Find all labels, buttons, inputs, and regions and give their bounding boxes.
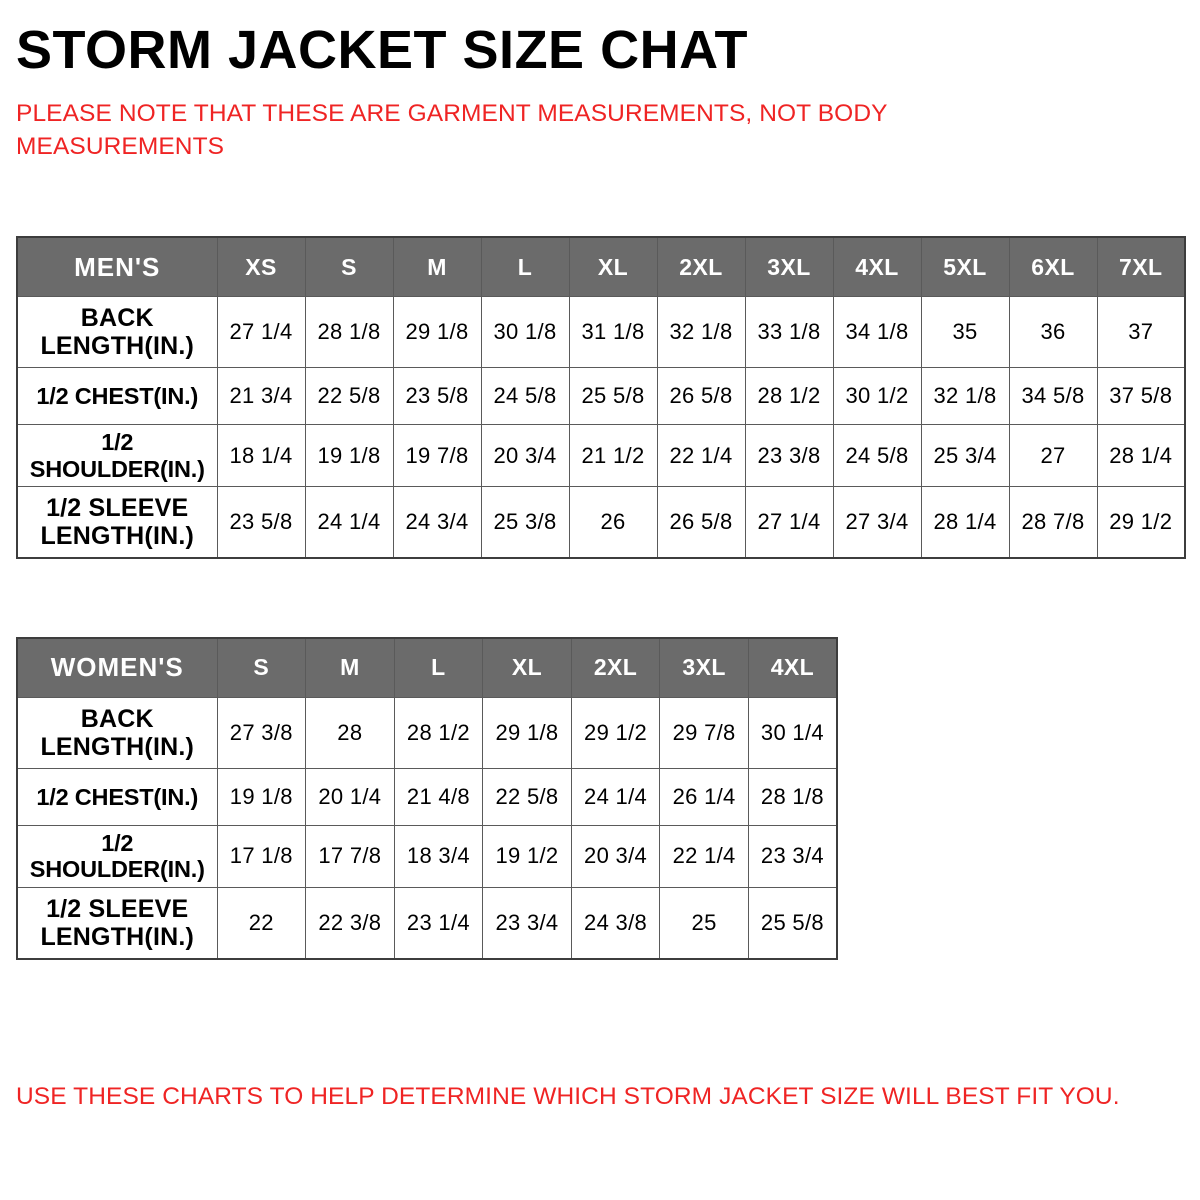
table-row: 1/2 SLEEVELENGTH(IN.)23 5/824 1/424 3/42… — [17, 486, 1185, 558]
measurement-cell: 22 — [217, 887, 306, 959]
measurement-cell: 25 5/8 — [569, 368, 657, 425]
row-label-line: LENGTH(IN.) — [40, 522, 194, 550]
measurement-cell: 17 1/8 — [217, 825, 306, 887]
mens-size-header-s: S — [305, 237, 393, 297]
row-label-line: 1/2 CHEST(IN.) — [36, 784, 198, 810]
measurement-cell: 32 1/8 — [657, 297, 745, 368]
measurement-cell: 25 5/8 — [748, 887, 837, 959]
measurement-cell: 18 1/4 — [217, 425, 305, 487]
mens-row-label-0: BACKLENGTH(IN.) — [17, 297, 217, 368]
mens-size-header-3xl: 3XL — [745, 237, 833, 297]
measurement-cell: 24 3/4 — [393, 486, 481, 558]
use-chart-note: USE THESE CHARTS TO HELP DETERMINE WHICH… — [16, 1081, 1120, 1113]
measurement-cell: 22 5/8 — [483, 768, 572, 825]
row-label-line: 1/2 SLEEVE — [46, 494, 188, 522]
mens-row-label-3: 1/2 SLEEVELENGTH(IN.) — [17, 486, 217, 558]
measurement-cell: 25 3/4 — [921, 425, 1009, 487]
measurement-cell: 29 1/2 — [1097, 486, 1185, 558]
measurement-cell: 26 — [569, 486, 657, 558]
measurement-cell: 19 1/8 — [217, 768, 306, 825]
measurement-cell: 37 5/8 — [1097, 368, 1185, 425]
row-label-line: LENGTH(IN.) — [40, 923, 194, 951]
measurement-cell: 27 3/4 — [833, 486, 921, 558]
measurement-cell: 33 1/8 — [745, 297, 833, 368]
measurement-cell: 22 1/4 — [657, 425, 745, 487]
garment-measurement-note: PLEASE NOTE THAT THESE ARE GARMENT MEASU… — [16, 79, 976, 165]
womens-row-label-1: 1/2 CHEST(IN.) — [17, 768, 217, 825]
row-label-line: 1/2 SLEEVE — [46, 895, 188, 923]
measurement-cell: 29 1/2 — [571, 697, 660, 768]
measurement-cell: 20 3/4 — [571, 825, 660, 887]
measurement-cell: 28 1/8 — [305, 297, 393, 368]
womens-size-header-4xl: 4XL — [748, 638, 837, 698]
womens-table-head: WOMEN'SSMLXL2XL3XL4XL — [17, 638, 837, 698]
womens-size-header-2xl: 2XL — [571, 638, 660, 698]
size-chart-page: STORM JACKET SIZE CHAT PLEASE NOTE THAT … — [0, 0, 1200, 1200]
measurement-cell: 29 1/8 — [393, 297, 481, 368]
mens-size-header-l: L — [481, 237, 569, 297]
measurement-cell: 30 1/4 — [748, 697, 837, 768]
measurement-cell: 27 1/4 — [745, 486, 833, 558]
measurement-cell: 23 3/4 — [483, 887, 572, 959]
measurement-cell: 20 1/4 — [306, 768, 395, 825]
table-row: 1/2 CHEST(IN.)21 3/422 5/823 5/824 5/825… — [17, 368, 1185, 425]
womens-size-header-s: S — [217, 638, 306, 698]
measurement-cell: 28 1/2 — [745, 368, 833, 425]
measurement-cell: 20 3/4 — [481, 425, 569, 487]
measurement-cell: 23 1/4 — [394, 887, 483, 959]
measurement-cell: 28 1/8 — [748, 768, 837, 825]
mens-size-header-2xl: 2XL — [657, 237, 745, 297]
measurement-cell: 27 — [1009, 425, 1097, 487]
row-label-line: 1/2 SHOULDER(IN.) — [30, 830, 205, 882]
row-label-line: 1/2 SHOULDER(IN.) — [30, 429, 205, 481]
measurement-cell: 25 3/8 — [481, 486, 569, 558]
mens-table-body: BACKLENGTH(IN.)27 1/428 1/829 1/830 1/83… — [17, 297, 1185, 558]
measurement-cell: 35 — [921, 297, 1009, 368]
womens-size-header-3xl: 3XL — [660, 638, 749, 698]
measurement-cell: 21 3/4 — [217, 368, 305, 425]
measurement-cell: 28 1/2 — [394, 697, 483, 768]
measurement-cell: 24 5/8 — [481, 368, 569, 425]
measurement-cell: 21 4/8 — [394, 768, 483, 825]
womens-row-label-0: BACKLENGTH(IN.) — [17, 697, 217, 768]
womens-corner-label: WOMEN'S — [17, 638, 217, 698]
measurement-cell: 18 3/4 — [394, 825, 483, 887]
measurement-cell: 34 5/8 — [1009, 368, 1097, 425]
table-row: BACKLENGTH(IN.)27 1/428 1/829 1/830 1/83… — [17, 297, 1185, 368]
table-row: BACKLENGTH(IN.)27 3/82828 1/229 1/829 1/… — [17, 697, 837, 768]
row-label-line: BACK — [81, 304, 154, 332]
measurement-cell: 23 3/8 — [745, 425, 833, 487]
row-label-line: LENGTH(IN.) — [40, 332, 194, 360]
measurement-cell: 29 1/8 — [483, 697, 572, 768]
measurement-cell: 24 1/4 — [571, 768, 660, 825]
mens-size-header-xs: XS — [217, 237, 305, 297]
womens-row-label-2: 1/2 SHOULDER(IN.) — [17, 825, 217, 887]
mens-header-row: MEN'SXSSMLXL2XL3XL4XL5XL6XL7XL — [17, 237, 1185, 297]
mens-size-header-6xl: 6XL — [1009, 237, 1097, 297]
measurement-cell: 32 1/8 — [921, 368, 1009, 425]
measurement-cell: 30 1/8 — [481, 297, 569, 368]
measurement-cell: 25 — [660, 887, 749, 959]
measurement-cell: 26 1/4 — [660, 768, 749, 825]
measurement-cell: 26 5/8 — [657, 368, 745, 425]
measurement-cell: 24 5/8 — [833, 425, 921, 487]
table-row: 1/2 SLEEVELENGTH(IN.)2222 3/823 1/423 3/… — [17, 887, 837, 959]
mens-table-head: MEN'SXSSMLXL2XL3XL4XL5XL6XL7XL — [17, 237, 1185, 297]
measurement-cell: 21 1/2 — [569, 425, 657, 487]
measurement-cell: 28 — [306, 697, 395, 768]
row-label-line: LENGTH(IN.) — [40, 733, 194, 761]
womens-size-header-xl: XL — [483, 638, 572, 698]
womens-table-body: BACKLENGTH(IN.)27 3/82828 1/229 1/829 1/… — [17, 697, 837, 958]
mens-size-header-5xl: 5XL — [921, 237, 1009, 297]
measurement-cell: 19 1/8 — [305, 425, 393, 487]
measurement-cell: 23 5/8 — [393, 368, 481, 425]
mens-size-header-xl: XL — [569, 237, 657, 297]
measurement-cell: 26 5/8 — [657, 486, 745, 558]
measurement-cell: 28 1/4 — [921, 486, 1009, 558]
mens-size-table: MEN'SXSSMLXL2XL3XL4XL5XL6XL7XL BACKLENGT… — [16, 236, 1186, 559]
mens-size-header-4xl: 4XL — [833, 237, 921, 297]
measurement-cell: 27 1/4 — [217, 297, 305, 368]
mens-size-header-7xl: 7XL — [1097, 237, 1185, 297]
measurement-cell: 29 7/8 — [660, 697, 749, 768]
row-label-line: BACK — [81, 705, 154, 733]
page-title: STORM JACKET SIZE CHAT — [16, 0, 1184, 79]
measurement-cell: 17 7/8 — [306, 825, 395, 887]
measurement-cell: 22 5/8 — [305, 368, 393, 425]
measurement-cell: 24 3/8 — [571, 887, 660, 959]
measurement-cell: 27 3/8 — [217, 697, 306, 768]
row-label-line: 1/2 CHEST(IN.) — [36, 383, 198, 409]
measurement-cell: 34 1/8 — [833, 297, 921, 368]
womens-size-header-l: L — [394, 638, 483, 698]
womens-header-row: WOMEN'SSMLXL2XL3XL4XL — [17, 638, 837, 698]
measurement-cell: 22 3/8 — [306, 887, 395, 959]
womens-row-label-3: 1/2 SLEEVELENGTH(IN.) — [17, 887, 217, 959]
womens-size-header-m: M — [306, 638, 395, 698]
womens-size-table: WOMEN'SSMLXL2XL3XL4XL BACKLENGTH(IN.)27 … — [16, 637, 838, 960]
measurement-cell: 23 3/4 — [748, 825, 837, 887]
table-row: 1/2 CHEST(IN.)19 1/820 1/421 4/822 5/824… — [17, 768, 837, 825]
measurement-cell: 30 1/2 — [833, 368, 921, 425]
measurement-cell: 37 — [1097, 297, 1185, 368]
measurement-cell: 24 1/4 — [305, 486, 393, 558]
measurement-cell: 23 5/8 — [217, 486, 305, 558]
table-row: 1/2 SHOULDER(IN.)17 1/817 7/818 3/419 1/… — [17, 825, 837, 887]
mens-corner-label: MEN'S — [17, 237, 217, 297]
mens-size-header-m: M — [393, 237, 481, 297]
measurement-cell: 19 1/2 — [483, 825, 572, 887]
measurement-cell: 28 7/8 — [1009, 486, 1097, 558]
mens-row-label-2: 1/2 SHOULDER(IN.) — [17, 425, 217, 487]
mens-row-label-1: 1/2 CHEST(IN.) — [17, 368, 217, 425]
table-row: 1/2 SHOULDER(IN.)18 1/419 1/819 7/820 3/… — [17, 425, 1185, 487]
measurement-cell: 22 1/4 — [660, 825, 749, 887]
measurement-cell: 28 1/4 — [1097, 425, 1185, 487]
measurement-cell: 31 1/8 — [569, 297, 657, 368]
measurement-cell: 19 7/8 — [393, 425, 481, 487]
measurement-cell: 36 — [1009, 297, 1097, 368]
